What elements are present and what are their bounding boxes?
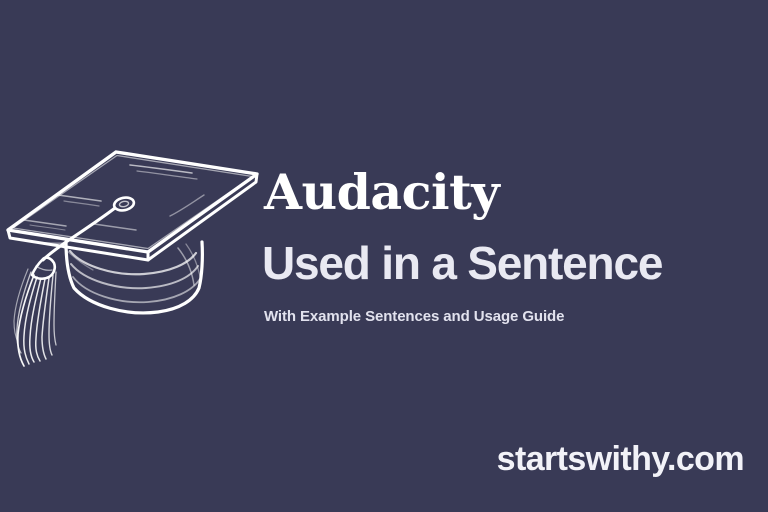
- page-subtitle: With Example Sentences and Usage Guide: [264, 308, 564, 326]
- word-definition-banner: Audacity Used in a Sentence With Example…: [0, 0, 768, 512]
- word-title: Audacity: [264, 168, 499, 217]
- site-brand: startswithy.com: [497, 441, 744, 478]
- graduation-cap-icon: [0, 138, 270, 374]
- page-headline: Used in a Sentence: [262, 239, 662, 289]
